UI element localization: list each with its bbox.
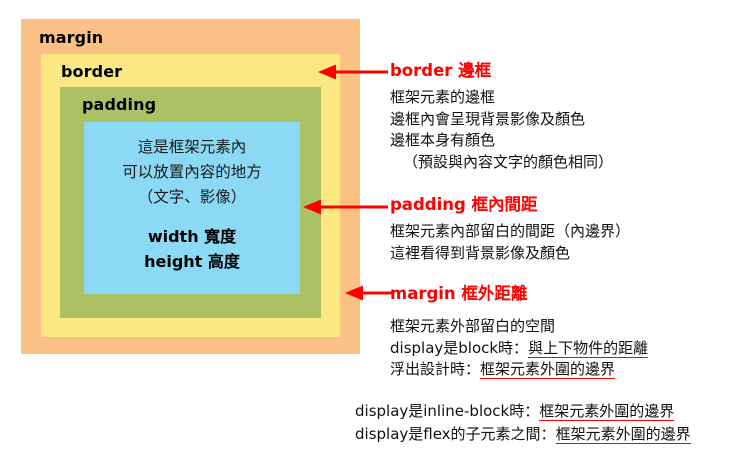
margin-box: margin border padding 這是框架元素內 可以放置內容的地方 …	[21, 19, 360, 354]
content-description: 這是框架元素內 可以放置內容的地方 （文字、影像）	[84, 135, 300, 210]
footer-notes: display是inline-block時：框架元素外圍的邊界 display是…	[355, 400, 691, 446]
annotation-padding-body: 框架元素內部留白的間距（內邊界） 這裡看得到背景影像及顏色	[390, 221, 630, 264]
content-description-line-2: 可以放置內容的地方	[84, 160, 300, 185]
footer-line-inline-block-prefix: display是inline-block時：	[355, 402, 539, 420]
annotation-border: border 邊框 框架元素的邊框 邊框內會呈現背景影像及顏色 邊框本身有顏色 …	[390, 61, 613, 173]
annotation-padding: padding 框內間距 框架元素內部留白的間距（內邊界） 這裡看得到背景影像及…	[390, 195, 630, 264]
arrow-to-margin-icon	[345, 285, 392, 301]
content-description-line-1: 這是框架元素內	[84, 135, 300, 160]
annotation-padding-title: padding 框內間距	[390, 195, 630, 215]
annotation-margin-body: 框架元素外部留白的空間 display是block時：與上下物件的距離 浮出設計…	[390, 316, 648, 381]
annotation-margin-line-3-prefix: 浮出設計時：	[390, 360, 480, 378]
annotation-border-line-1: 框架元素的邊框	[390, 87, 613, 109]
padding-box: padding 這是框架元素內 可以放置內容的地方 （文字、影像） width …	[60, 87, 321, 318]
content-dimensions: width 寬度 height 高度	[84, 224, 300, 274]
annotation-margin-line-2: display是block時：與上下物件的距離	[390, 338, 648, 360]
annotation-margin: margin 框外距離 框架元素外部留白的空間 display是block時：與…	[390, 284, 648, 381]
margin-label: margin	[39, 28, 103, 47]
border-box: border padding 這是框架元素內 可以放置內容的地方 （文字、影像）…	[41, 54, 340, 337]
annotation-border-title: border 邊框	[390, 61, 613, 81]
annotation-border-line-2: 邊框內會呈現背景影像及顏色	[390, 109, 613, 131]
annotation-border-body: 框架元素的邊框 邊框內會呈現背景影像及顏色 邊框本身有顏色 （預設與內容文字的顏…	[390, 87, 613, 173]
footer-line-flex-underlined: 框架元素外圍的邊界	[556, 425, 691, 444]
box-model-infographic: margin border padding 這是框架元素內 可以放置內容的地方 …	[0, 0, 750, 461]
footer-line-inline-block: display是inline-block時：框架元素外圍的邊界	[355, 400, 691, 423]
annotation-margin-line-2-underlined: 與上下物件的距離	[528, 339, 648, 358]
footer-line-inline-block-underlined: 框架元素外圍的邊界	[539, 402, 674, 421]
annotation-padding-line-2: 這裡看得到背景影像及顏色	[390, 243, 630, 265]
content-height-label: height 高度	[84, 249, 300, 274]
annotation-border-line-3: 邊框本身有顏色	[390, 130, 613, 152]
footer-line-flex-prefix: display是flex的子元素之間：	[355, 425, 556, 443]
arrow-to-border-icon	[318, 64, 388, 80]
annotation-margin-line-2-prefix: display是block時：	[390, 339, 528, 357]
content-width-label: width 寬度	[84, 224, 300, 249]
annotation-margin-line-3: 浮出設計時：框架元素外圍的邊界	[390, 359, 648, 381]
content-box: 這是框架元素內 可以放置內容的地方 （文字、影像） width 寬度 heigh…	[84, 122, 300, 294]
annotation-margin-line-3-underlined: 框架元素外圍的邊界	[480, 360, 615, 379]
annotation-margin-line-1: 框架元素外部留白的空間	[390, 316, 648, 338]
border-label: border	[61, 62, 122, 81]
padding-label: padding	[82, 95, 156, 114]
footer-line-flex: display是flex的子元素之間：框架元素外圍的邊界	[355, 423, 691, 446]
arrow-to-padding-icon	[303, 199, 388, 215]
content-description-line-3: （文字、影像）	[84, 185, 300, 210]
annotation-padding-line-1: 框架元素內部留白的間距（內邊界）	[390, 221, 630, 243]
annotation-border-line-4: （預設與內容文字的顏色相同）	[390, 152, 613, 174]
annotation-margin-title: margin 框外距離	[390, 284, 648, 304]
